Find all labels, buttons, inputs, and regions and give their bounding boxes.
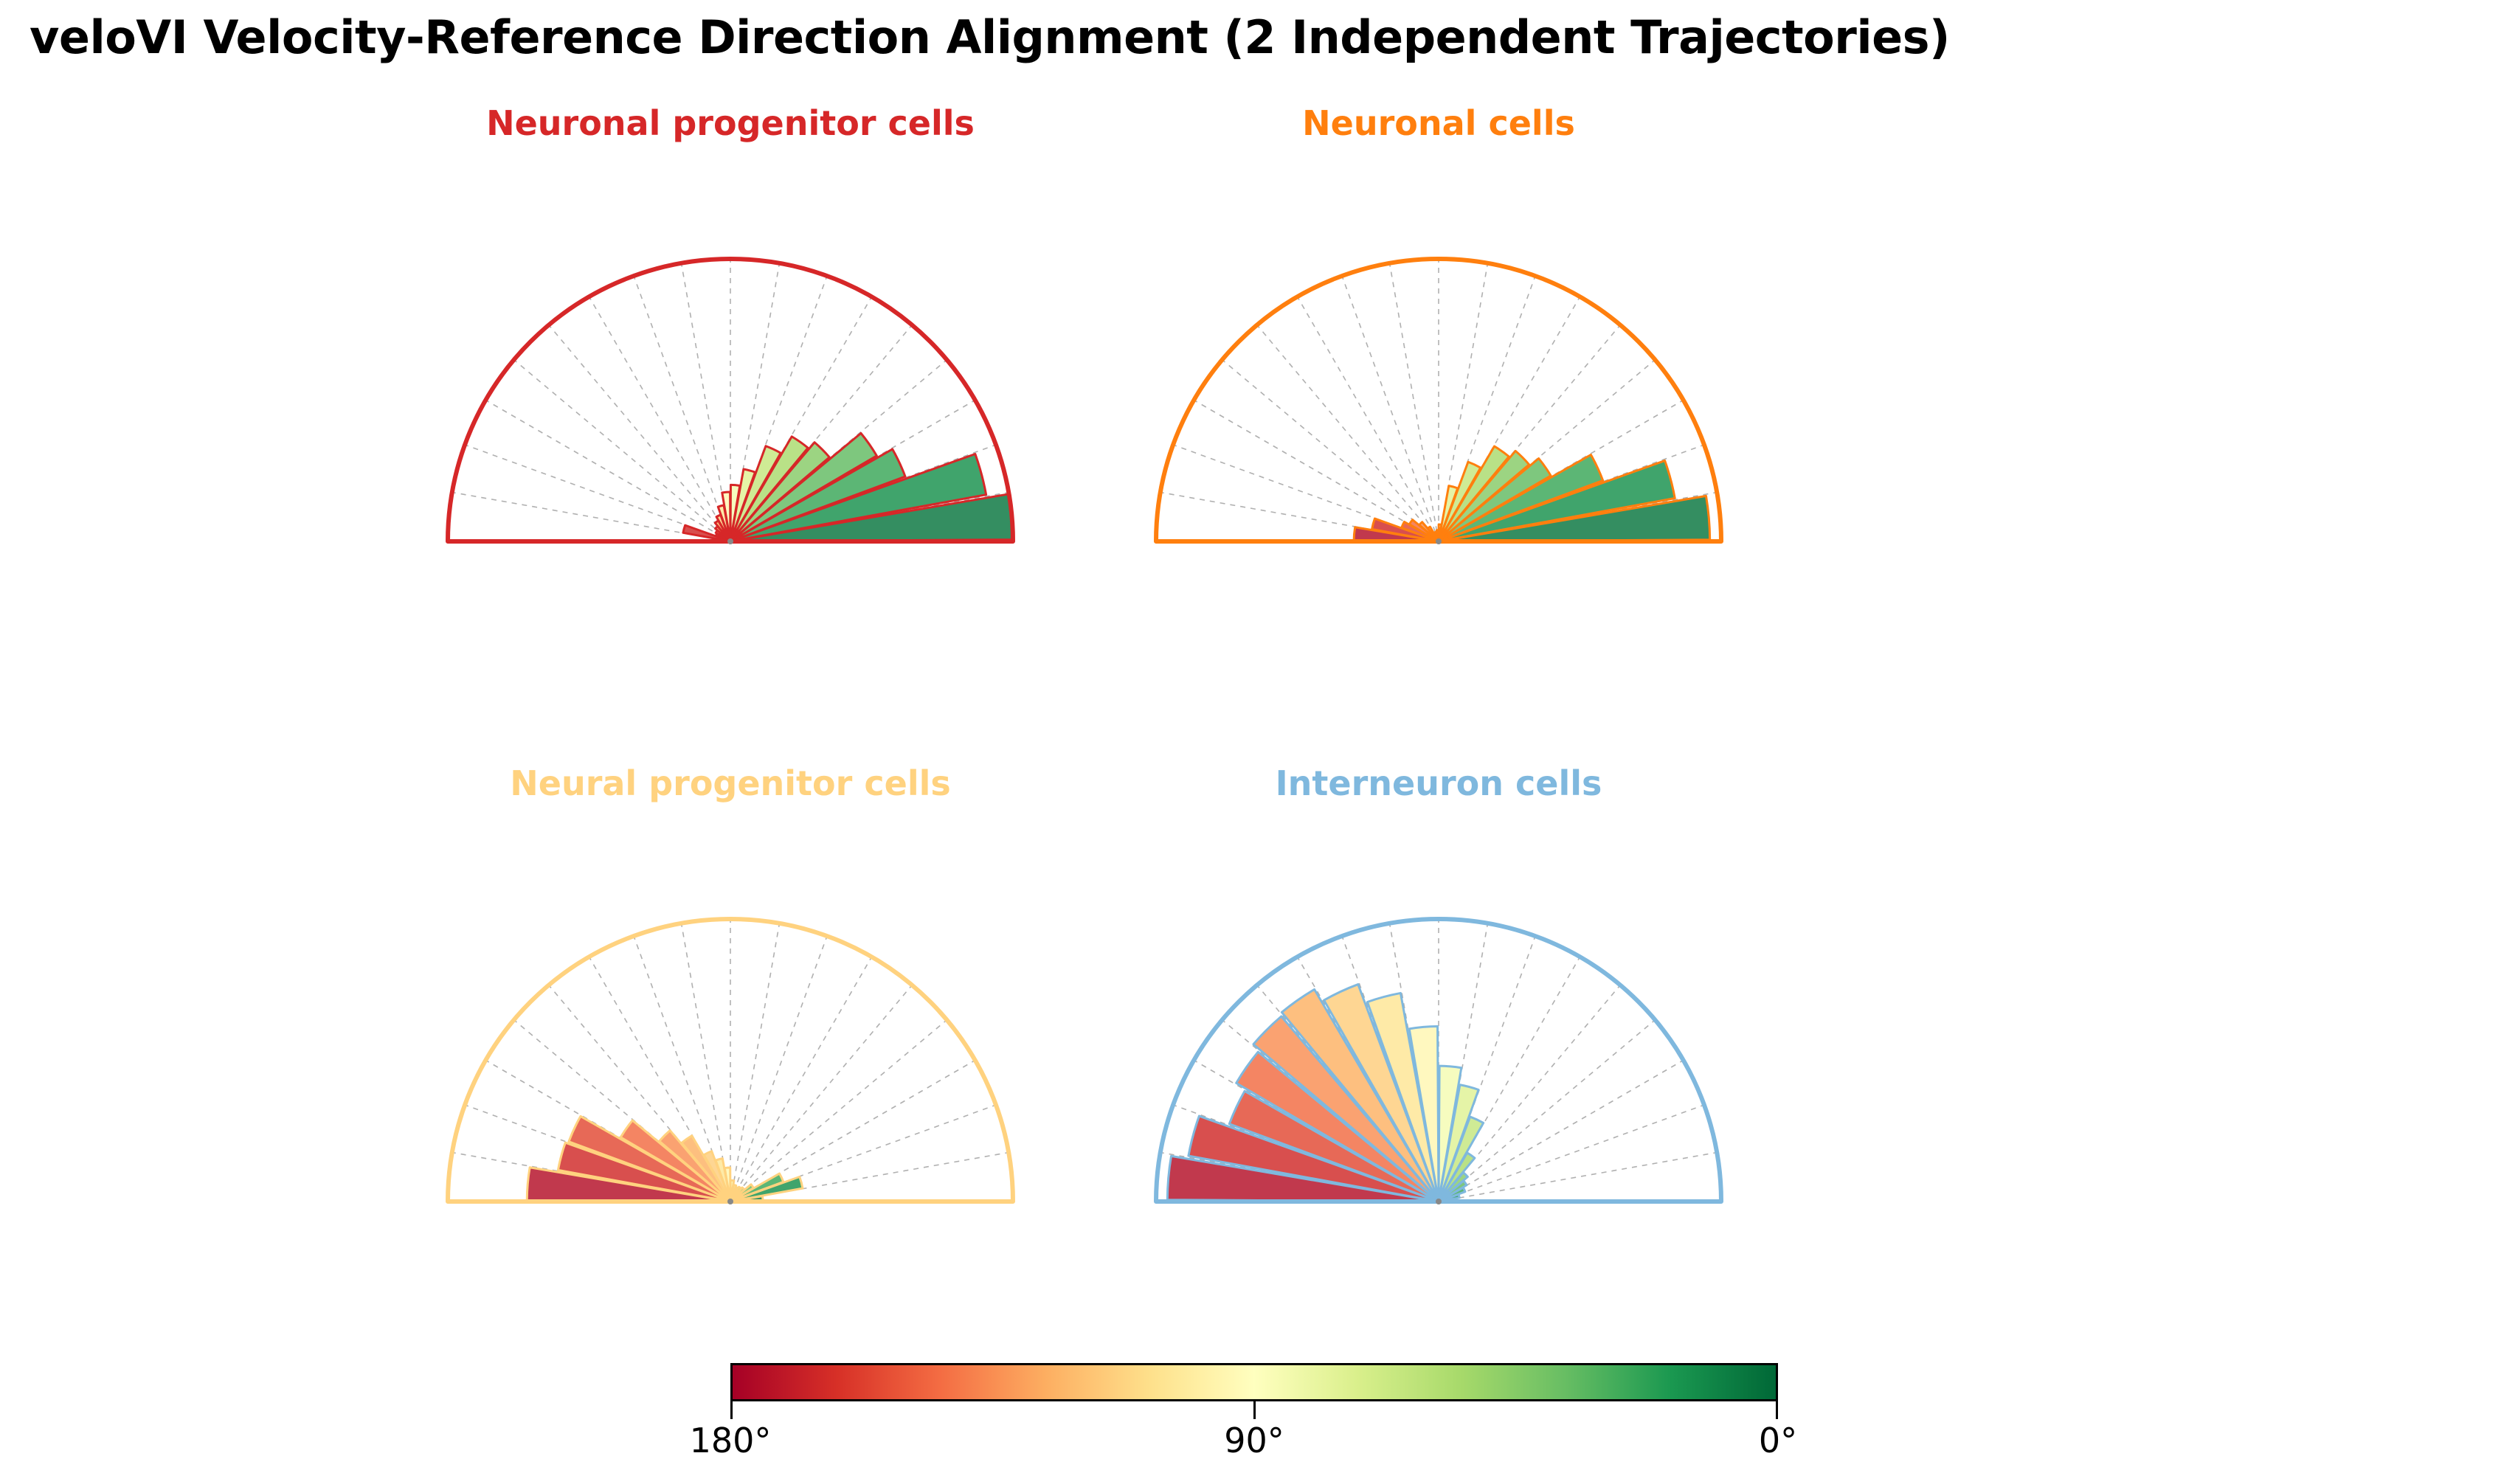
rose-bars	[527, 1116, 803, 1202]
rose-chart-neural-progenitor-cells	[413, 827, 1048, 1240]
panel-interneuron-cells: Interneuron cells	[1121, 763, 1756, 1324]
panel-title-interneuron-cells: Interneuron cells	[1121, 763, 1756, 803]
rose-bars	[1354, 446, 1710, 541]
rose-chart-neuronal-progenitor-cells	[413, 167, 1048, 580]
rose-chart-interneuron-cells	[1121, 827, 1756, 1240]
colorbar-tick	[730, 1401, 733, 1419]
colorbar-tick-label: 0°	[1759, 1421, 1797, 1460]
colorbar-tick-label: 90°	[1224, 1421, 1284, 1460]
colorbar: 180°90°0°	[730, 1363, 1778, 1474]
polar-origin-marker	[1436, 538, 1442, 544]
polar-grid	[452, 919, 1009, 1202]
grid-spoke	[1389, 263, 1439, 541]
panel-title-neural-progenitor-cells: Neural progenitor cells	[413, 763, 1048, 803]
colorbar-tick	[1253, 1401, 1256, 1419]
panel-neuronal-cells: Neuronal cells	[1121, 103, 1756, 664]
rose-plot-neuronal-cells	[1121, 167, 1756, 580]
grid-spoke	[730, 923, 780, 1202]
polar-origin-marker	[1436, 1199, 1442, 1204]
rose-chart-neuronal-cells	[1121, 167, 1756, 580]
panel-neuronal-progenitor-cells: Neuronal progenitor cells	[413, 103, 1048, 664]
rose-bars	[683, 433, 1013, 541]
page-title: veloVI Velocity-Reference Direction Alig…	[30, 10, 2471, 64]
colorbar-tick-labels: 180°90°0°	[730, 1421, 1778, 1465]
panel-neural-progenitor-cells: Neural progenitor cells	[413, 763, 1048, 1324]
polar-origin-marker	[727, 1199, 733, 1204]
rose-plot-neural-progenitor-cells	[413, 827, 1048, 1240]
rose-bars	[1167, 985, 1483, 1202]
panel-title-neuronal-cells: Neuronal cells	[1121, 103, 1756, 143]
polar-origin-marker	[727, 538, 733, 544]
figure-canvas: veloVI Velocity-Reference Direction Alig…	[0, 0, 2501, 1484]
colorbar-tick	[1776, 1401, 1778, 1419]
rose-plot-neuronal-progenitor-cells	[413, 167, 1048, 580]
colorbar-gradient	[730, 1363, 1778, 1401]
grid-spoke	[1439, 1152, 1717, 1202]
colorbar-tick-label: 180°	[690, 1421, 772, 1460]
rose-plot-interneuron-cells	[1121, 827, 1756, 1240]
colorbar-ticks	[730, 1401, 1778, 1419]
panel-title-neuronal-progenitor-cells: Neuronal progenitor cells	[413, 103, 1048, 143]
